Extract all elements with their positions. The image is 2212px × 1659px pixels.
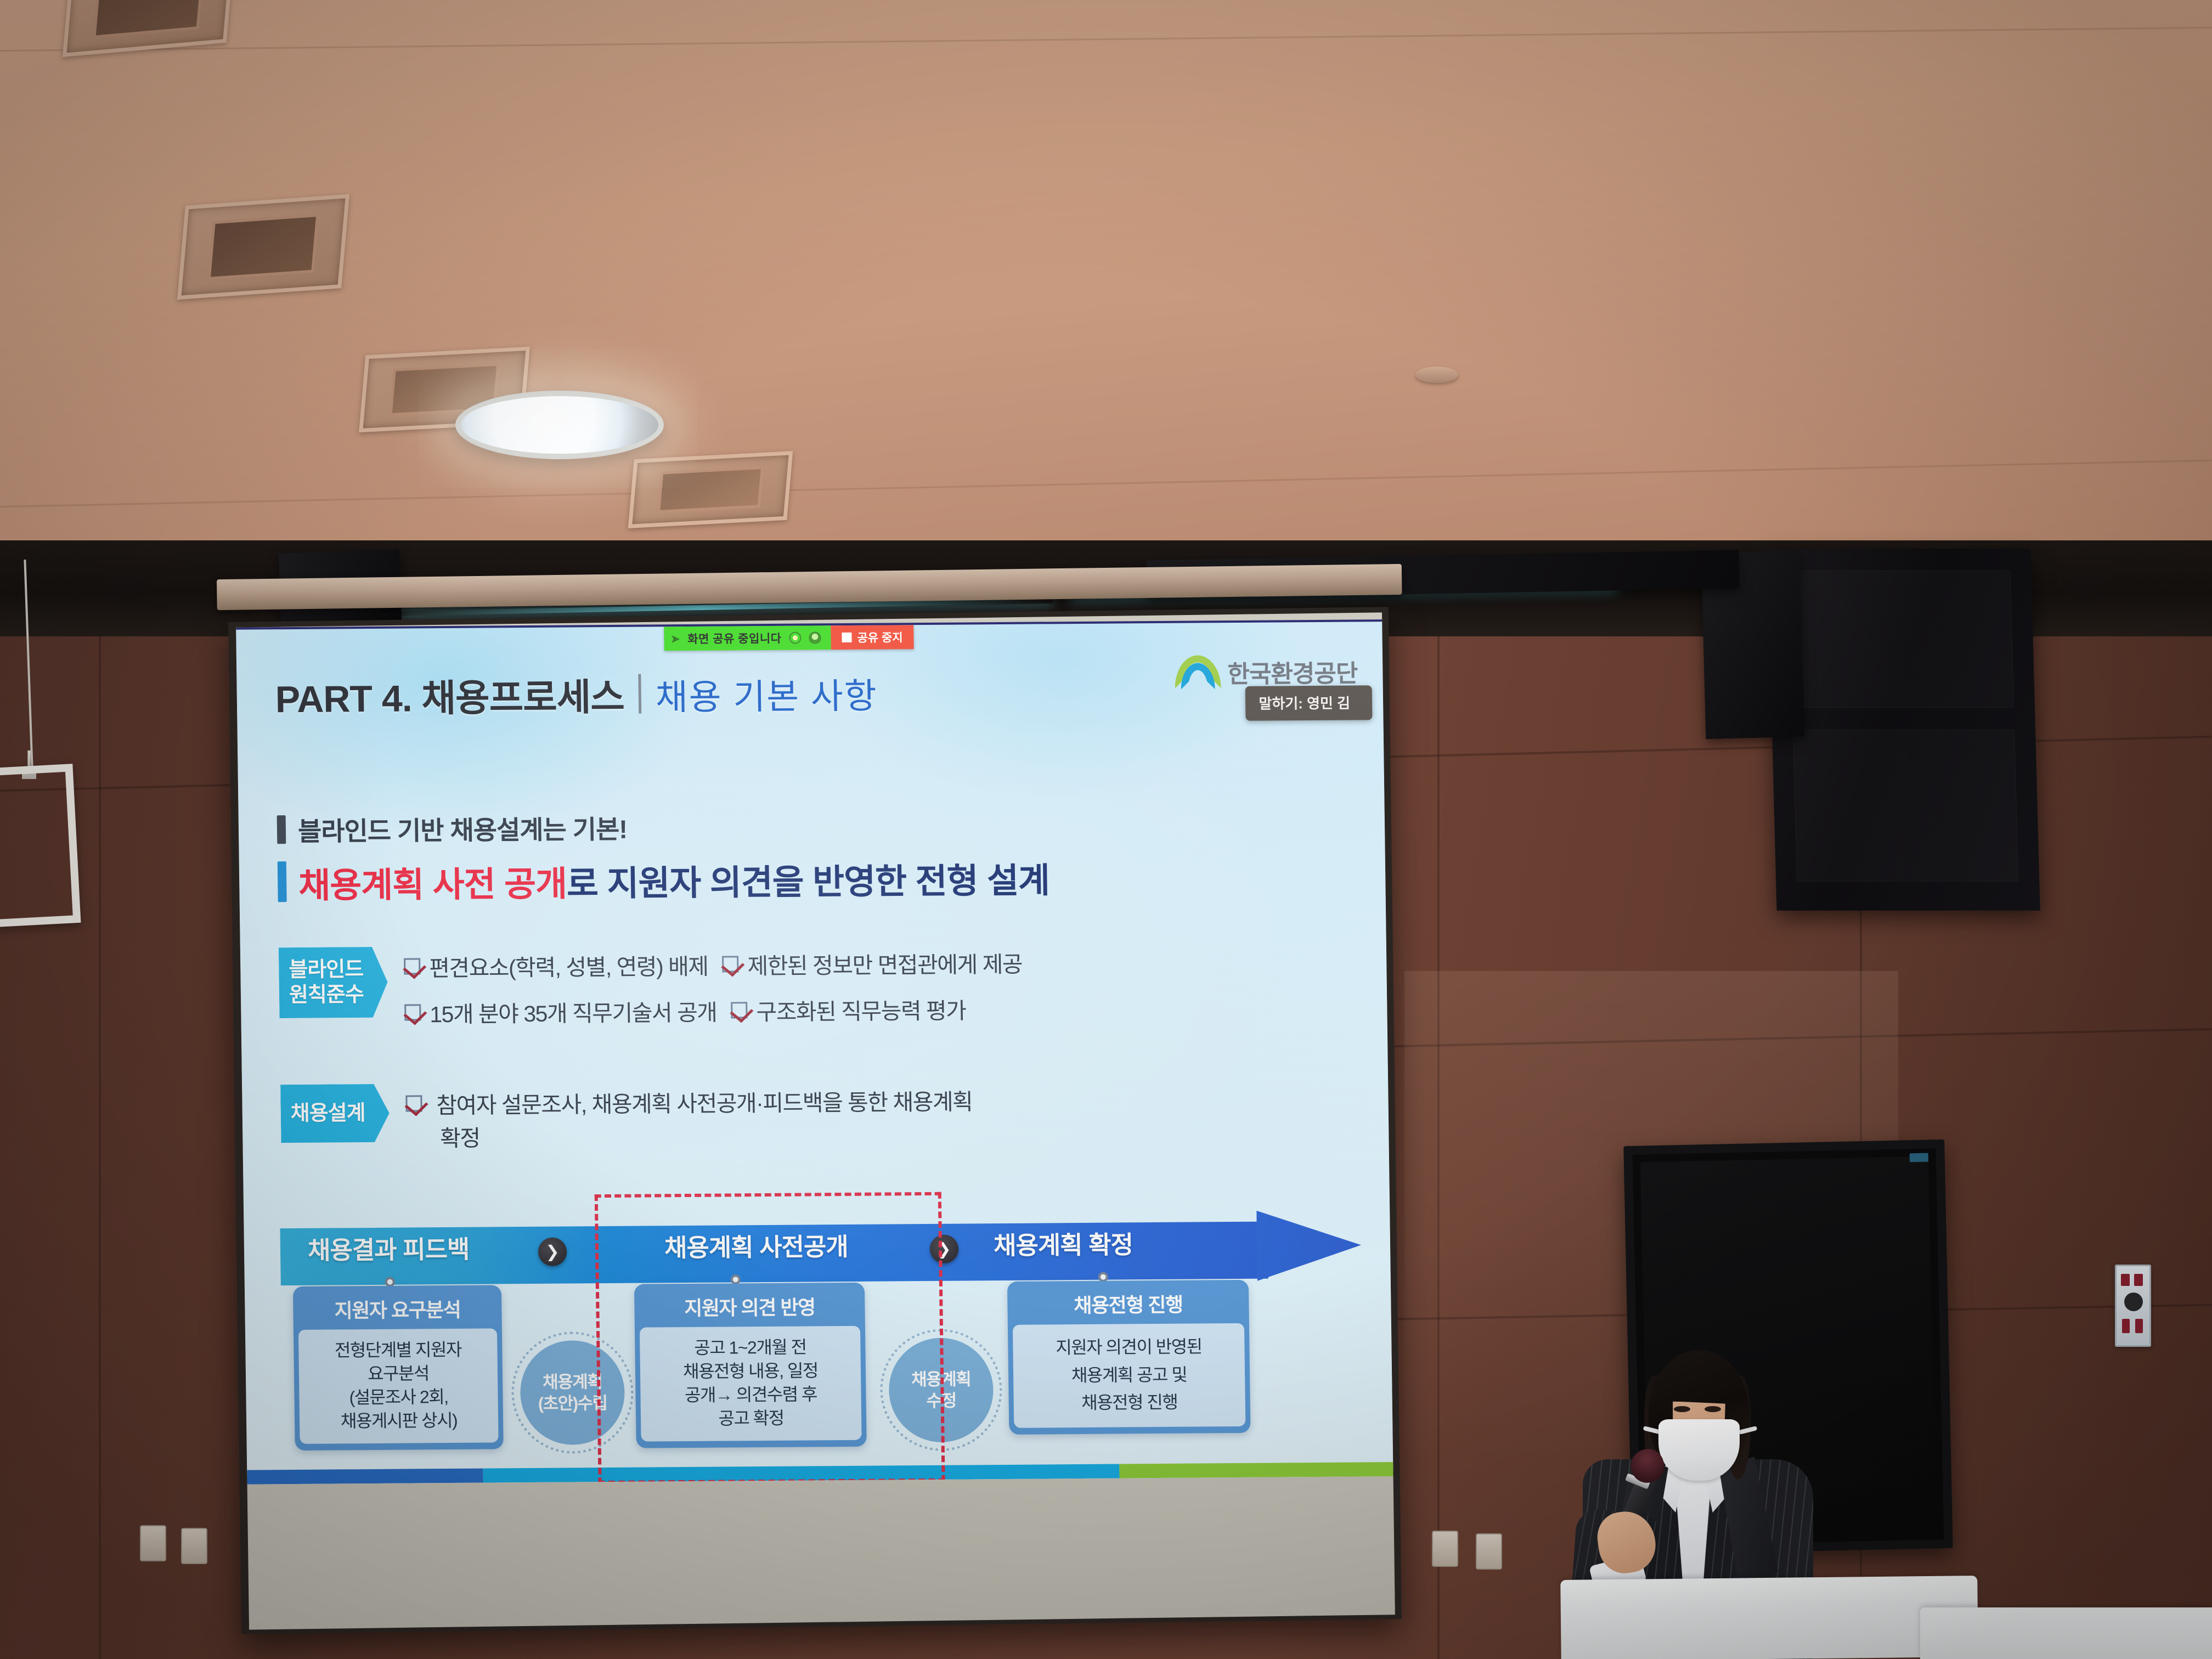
card-body: 지원자 의견이 반영된 채용계획 공고 및 채용전형 진행 (1013, 1323, 1245, 1428)
checklist-row: 편견요소(학력, 성별, 연령) 배제 제한된 정보만 면접관에게 제공 (404, 946, 1023, 983)
ceiling-seam (0, 27, 2212, 52)
shield-icon[interactable] (809, 631, 821, 644)
checklist-row: 참여자 설문조사, 채용계획 사전공개·피드백을 통한 채용계획 확정 (405, 1083, 973, 1153)
card-selection-process: 채용전형 진행 지원자 의견이 반영된 채용계획 공고 및 채용전형 진행 (1007, 1280, 1251, 1435)
section-blind-principles: 블라인드 원칙준수 편견요소(학력, 성별, 연령) 배제 제한된 정보만 면접… (279, 943, 1023, 1030)
wall-outlet (1476, 1533, 1502, 1570)
share-status-pill: ➤ 화면 공유 중입니다 (664, 625, 831, 651)
stop-sharing-button[interactable]: 공유 중지 (831, 625, 914, 650)
card-applicant-needs: 지원자 요구분석 전형단계별 지원자 요구분석 (설문조사 2회, 채용게시판 … (293, 1285, 504, 1450)
wall-outlet (140, 1525, 166, 1561)
lead-accent-bar (277, 815, 286, 844)
title-divider (638, 674, 641, 713)
eye-left (1674, 1406, 1690, 1412)
card-body-line: 전형단계별 지원자 (304, 1338, 492, 1362)
card-body-line: 채용계획 공고 및 (1019, 1361, 1240, 1390)
card-body-line: 요구분석 (304, 1361, 493, 1386)
design-text-continued: 확정 (440, 1116, 973, 1153)
process-arrow-head (1256, 1210, 1362, 1280)
lead-line-2-highlight: 채용계획 사전 공개 (298, 865, 567, 905)
record-dot-icon[interactable] (789, 632, 801, 644)
podium-side (1920, 1607, 2212, 1659)
footer-strip-blue (247, 1469, 483, 1485)
conference-room: ➤ 화면 공유 중입니다 공유 중지 (0, 0, 2212, 1659)
share-status-label: 화면 공유 중입니다 (687, 630, 782, 647)
logo-mark-icon (1175, 655, 1221, 690)
eye-right (1705, 1406, 1721, 1412)
wall-control-panel[interactable] (2115, 1265, 2151, 1347)
page-title: PART 4. 채용프로세스 (275, 667, 624, 723)
checklist-row: 15개 분야 35개 직무기술서 공개 구조화된 직무능력 평가 (404, 992, 1023, 1029)
process-step-label-1: 채용결과 피드백 (308, 1229, 470, 1266)
card-body-line: 채용게시판 상시) (305, 1408, 493, 1433)
checklist-design: 참여자 설문조사, 채용계획 사전공개·피드백을 통한 채용계획 확정 (405, 1080, 973, 1153)
check-text-left: 15개 분야 35개 직무기술서 공개 (430, 994, 717, 1029)
process-step-label-3: 채용계획 확정 (994, 1224, 1133, 1261)
section-tag-line-1: 블라인드 (289, 957, 363, 983)
chevron-right-icon: ❯ (538, 1238, 567, 1266)
corporate-logo: 한국환경공단 (1175, 653, 1358, 690)
lead-accent-bar (278, 861, 287, 902)
checkbox-checked-icon (404, 1004, 421, 1020)
ceiling-speaker-large (1767, 549, 2040, 911)
lead-line-2: 채용계획 사전 공개로 지원자 의견을 반영한 전형 설계 (298, 853, 1050, 908)
checkbox-checked-icon (731, 1002, 747, 1018)
screen-frame: ➤ 화면 공유 중입니다 공유 중지 (228, 607, 1402, 1634)
design-text-mid: ·피드백을 통한 채용계획 (756, 1089, 973, 1116)
checklist-blind: 편견요소(학력, 성별, 연령) 배제 제한된 정보만 면접관에게 제공 15개… (404, 943, 1023, 1029)
ceiling (0, 0, 2212, 554)
active-speaker-badge: 말하기: 영민 김 (1245, 685, 1372, 721)
smoke-detector-icon (1415, 366, 1458, 383)
circle-line-1: 채용계획 (543, 1371, 602, 1393)
wall-outlet (181, 1528, 207, 1564)
logo-wordmark: 한국환경공단 (1227, 653, 1358, 690)
ceiling-vent (628, 451, 793, 528)
slide-subtitle: 채용 기본 사항 (655, 668, 878, 720)
tv-brand-badge (1910, 1153, 1928, 1163)
stop-square-icon (842, 633, 851, 642)
section-recruit-design: 채용설계 참여자 설문조사, 채용계획 사전공개·피드백을 통한 채용계획 확정 (280, 1080, 973, 1154)
checkbox-checked-icon (722, 956, 738, 972)
cursor-arrow-icon: ➤ (670, 632, 680, 646)
wall-outlet (1432, 1531, 1458, 1567)
round-ceiling-light (455, 391, 664, 459)
screen-surface: ➤ 화면 공유 중입니다 공유 중지 (236, 612, 1395, 1629)
footer-strip-green (1119, 1462, 1393, 1479)
highlight-dashed-box (595, 1192, 945, 1484)
podium-front (1560, 1576, 1978, 1659)
check-text-right: 구조화된 직무능력 평가 (756, 992, 966, 1026)
section-tag-design: 채용설계 (280, 1084, 390, 1143)
lead-statements: 블라인드 기반 채용설계는 기본! 채용계획 사전 공개로 지원자 의견을 반영… (277, 805, 1050, 908)
card-body-line: (설문조사 2회, (304, 1385, 493, 1409)
lead-line-1: 블라인드 기반 채용설계는 기본! (298, 808, 628, 848)
section-tag-blind: 블라인드 원칙준수 (279, 947, 388, 1018)
screen-share-toolbar[interactable]: ➤ 화면 공유 중입니다 공유 중지 (664, 625, 914, 651)
check-text-right: 제한된 정보만 면접관에게 제공 (747, 946, 1022, 980)
slide-header: PART 4. 채용프로세스 채용 기본 사항 (275, 665, 878, 724)
section-tag-line-2: 원칙준수 (289, 982, 364, 1008)
card-body: 전형단계별 지원자 요구분석 (설문조사 2회, 채용게시판 상시) (298, 1328, 499, 1443)
check-text-left: 편견요소(학력, 성별, 연령) 배제 (429, 948, 708, 983)
card-header: 채용전형 진행 (1012, 1285, 1244, 1325)
checkbox-checked-icon (404, 958, 420, 974)
ceiling-seam (0, 460, 2211, 507)
ceiling-vent (177, 194, 349, 300)
card-header: 지원자 요구분석 (298, 1290, 497, 1330)
lead-line-2-rest: 로 지원자 의견을 반영한 전형 설계 (567, 861, 1050, 903)
wall-panel-seam (99, 543, 101, 1659)
card-body-line: 지원자 의견이 반영된 (1018, 1333, 1239, 1362)
design-text-pre: 참여자 설문조사, (436, 1092, 592, 1118)
projected-slide: ➤ 화면 공유 중입니다 공유 중지 (236, 619, 1393, 1484)
design-text-highlight: 채용계획 사전공개 (591, 1091, 756, 1117)
hanging-sign-frame (0, 764, 81, 929)
card-body-line: 채용전형 진행 (1019, 1388, 1240, 1417)
projector-screen-assembly: ➤ 화면 공유 중입니다 공유 중지 (228, 607, 1402, 1634)
checkbox-checked-icon (405, 1095, 422, 1111)
stop-sharing-label: 공유 중지 (857, 629, 903, 646)
